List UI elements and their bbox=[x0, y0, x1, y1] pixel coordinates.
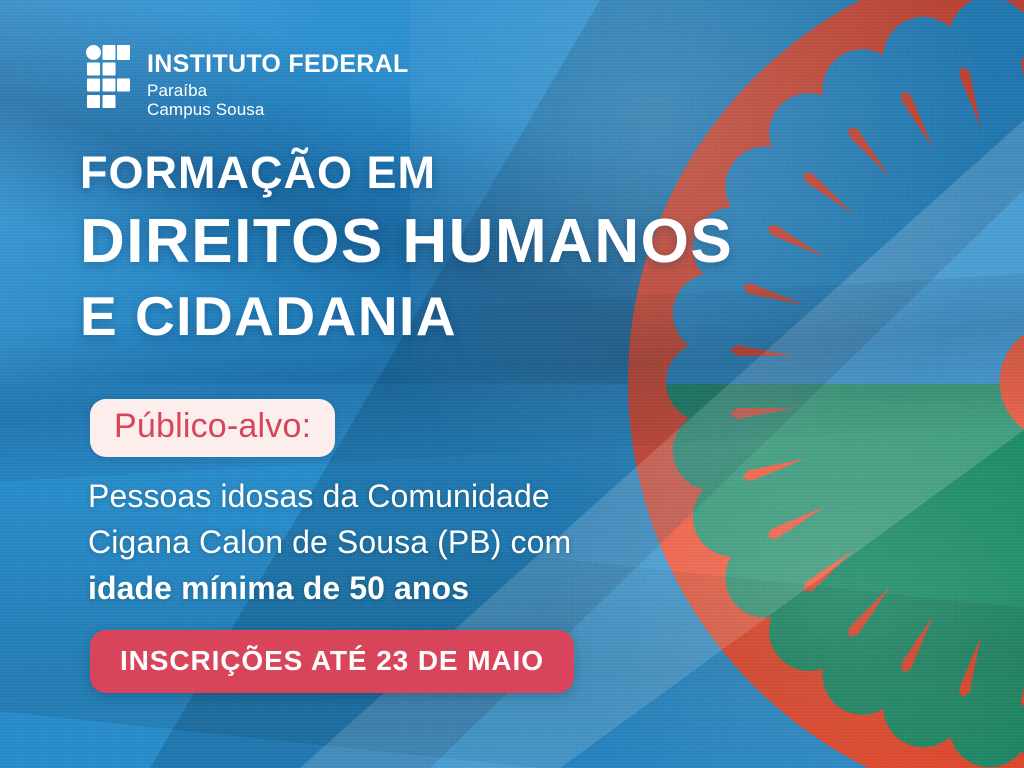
logo-state: Paraíba bbox=[147, 82, 409, 99]
headline-line-2: DIREITOS HUMANOS bbox=[80, 211, 733, 273]
target-audience-badge: Público-alvo: bbox=[90, 399, 335, 457]
body-line-2: Cigana Calon de Sousa (PB) com bbox=[88, 519, 571, 565]
logo-title: INSTITUTO FEDERAL bbox=[147, 52, 409, 77]
target-audience-description: Pessoas idosas da Comunidade Cigana Calo… bbox=[88, 473, 571, 611]
body-line-3-bold: idade mínima de 50 anos bbox=[88, 565, 571, 611]
headline-line-3: E CIDADANIA bbox=[80, 289, 733, 344]
headline-line-1: FORMAÇÃO EM bbox=[80, 150, 733, 197]
logo-campus: Campus Sousa bbox=[147, 101, 409, 118]
instituto-federal-logo-mark bbox=[86, 45, 132, 110]
poster-canvas: INSTITUTO FEDERAL Paraíba Campus Sousa F… bbox=[0, 0, 1024, 768]
institution-logo-text: INSTITUTO FEDERAL Paraíba Campus Sousa bbox=[147, 44, 409, 118]
registration-deadline-button[interactable]: INSCRIÇÕES ATÉ 23 DE MAIO bbox=[90, 630, 574, 693]
page-title: FORMAÇÃO EM DIREITOS HUMANOS E CIDADANIA bbox=[80, 150, 733, 344]
body-line-1: Pessoas idosas da Comunidade bbox=[88, 473, 571, 519]
poster-content: INSTITUTO FEDERAL Paraíba Campus Sousa F… bbox=[0, 0, 1024, 768]
institution-logo: INSTITUTO FEDERAL Paraíba Campus Sousa bbox=[86, 44, 409, 118]
